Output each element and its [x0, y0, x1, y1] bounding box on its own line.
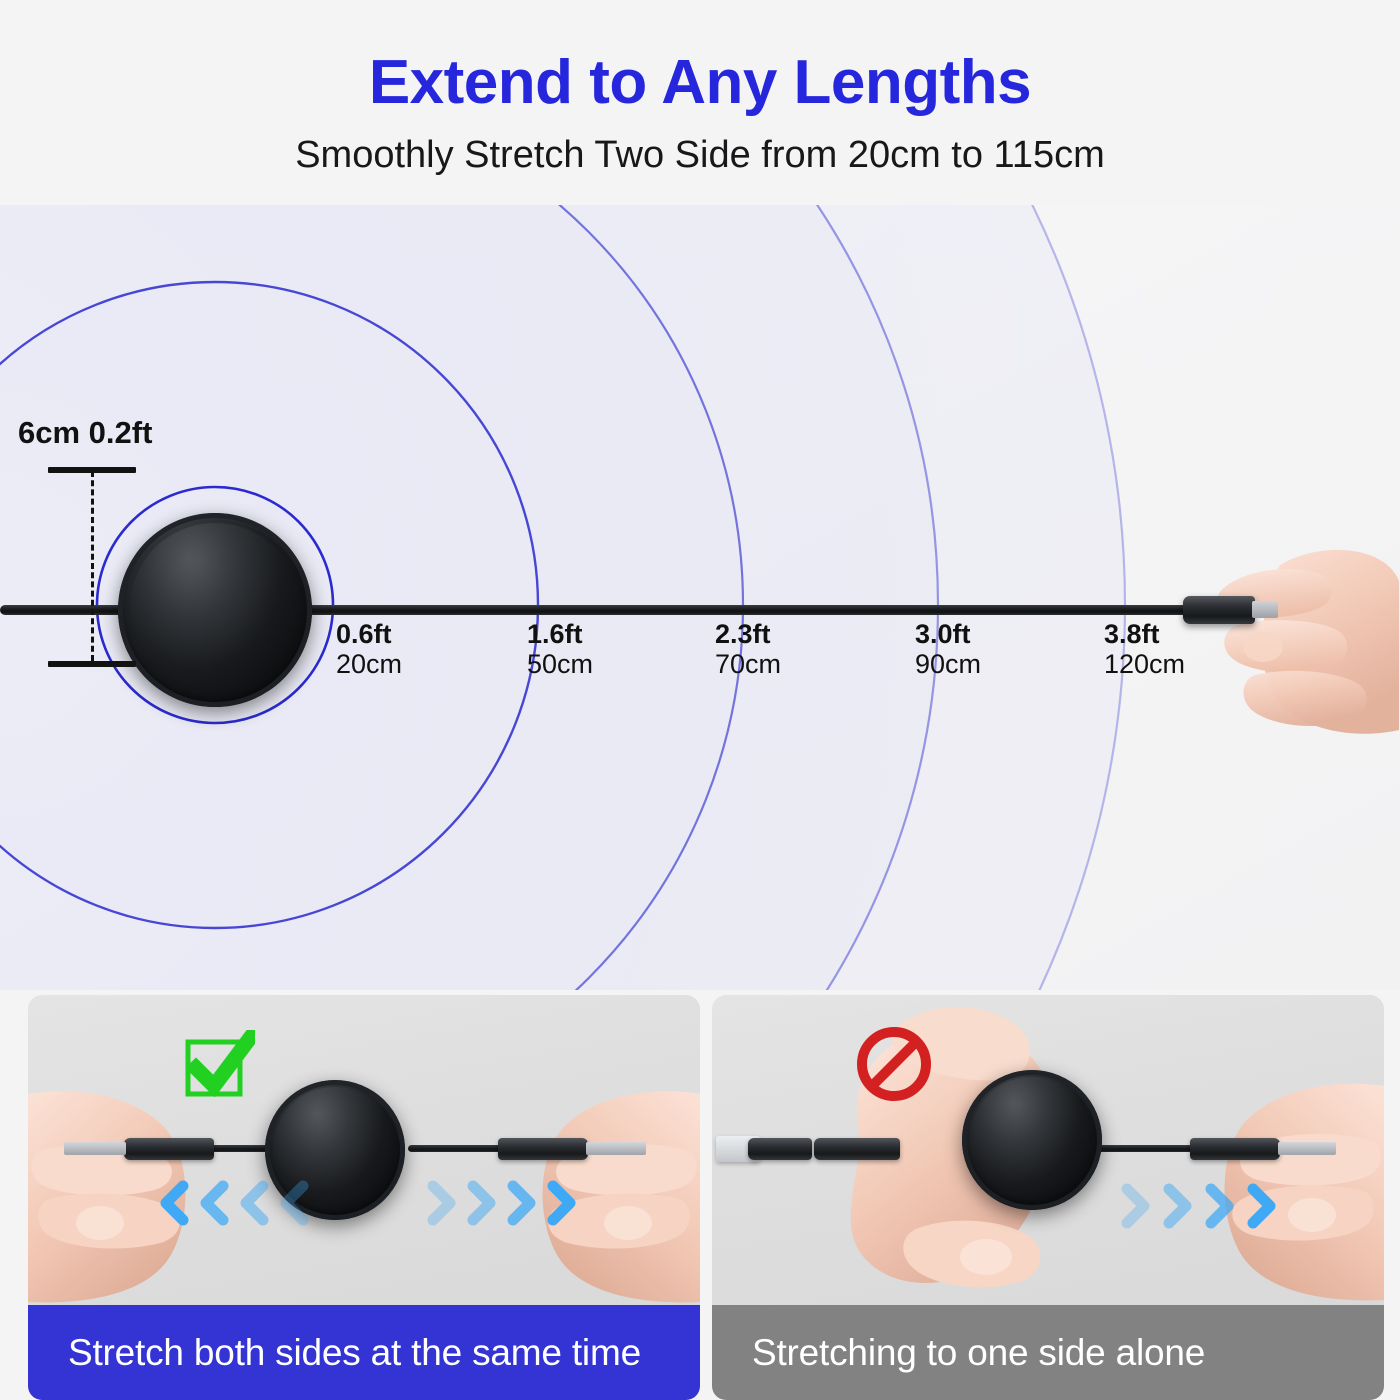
connector-inline-left [748, 1138, 812, 1160]
chevrons-left [156, 1180, 310, 1226]
connector-right [498, 1138, 588, 1160]
chevron-right-icon [426, 1180, 460, 1226]
distance-label-1: 0.6ft 20cm [336, 620, 402, 681]
panel-incorrect-usage: Stretching to one side alone [712, 995, 1384, 1400]
chevron-left-icon [156, 1180, 190, 1226]
thickness-label: 6cm 0.2ft [18, 415, 152, 451]
connector-left-retracted [814, 1138, 900, 1160]
extension-range-diagram: 6cm 0.2ft 0.6ft 20cm 1.6ft 50cm 2.3ft 70… [0, 205, 1400, 990]
connector-left [124, 1138, 214, 1160]
chevron-right-icon [1120, 1183, 1154, 1229]
connector-right-tip [586, 1142, 646, 1155]
chevron-right-icon [466, 1180, 500, 1226]
connector-right-pulled [1190, 1138, 1280, 1160]
cable-connector [1183, 596, 1255, 624]
chevron-left-icon [236, 1180, 270, 1226]
thickness-dimension: 6cm 0.2ft [48, 467, 168, 667]
distance-label-2: 1.6ft 50cm [527, 620, 593, 681]
chevron-left-icon [196, 1180, 230, 1226]
page-subtitle: Smoothly Stretch Two Side from 20cm to 1… [0, 114, 1400, 174]
infographic-header: Extend to Any Lengths Smoothly Stretch T… [0, 0, 1400, 205]
caption-incorrect-text: Stretching to one side alone [752, 1332, 1205, 1374]
chevron-left-icon [276, 1180, 310, 1226]
red-prohibition-icon [855, 1025, 933, 1103]
panel-incorrect-photo [712, 995, 1384, 1305]
green-check-icon [183, 1030, 255, 1102]
distance-label-5: 3.8ft 120cm [1104, 620, 1185, 681]
chevrons-right [426, 1180, 580, 1226]
chevron-right-icon [546, 1180, 580, 1226]
page-title: Extend to Any Lengths [0, 0, 1400, 114]
distance-label-3: 2.3ft 70cm [715, 620, 781, 681]
chevron-right-icon [1246, 1183, 1280, 1229]
distance-label-4: 3.0ft 90cm [915, 620, 981, 681]
connector-tip [1252, 601, 1278, 618]
panel-correct-usage: Stretch both sides at the same time [28, 995, 700, 1400]
caption-correct-text: Stretch both sides at the same time [68, 1332, 641, 1374]
dimension-tick-bottom [48, 661, 136, 667]
charger-puck-incorrect [962, 1070, 1102, 1210]
chevrons-right-only [1120, 1183, 1280, 1229]
hand-pulling-cable [1185, 525, 1400, 745]
panel-correct-photo [28, 995, 700, 1305]
connector-right-pulled-tip [1278, 1142, 1336, 1155]
caption-correct: Stretch both sides at the same time [28, 1305, 700, 1400]
chevron-right-icon [506, 1180, 540, 1226]
chevron-right-icon [1204, 1183, 1238, 1229]
chevron-right-icon [1162, 1183, 1196, 1229]
dimension-dashed-line [91, 471, 94, 661]
caption-incorrect: Stretching to one side alone [712, 1305, 1384, 1400]
connector-left-tip [64, 1142, 126, 1155]
